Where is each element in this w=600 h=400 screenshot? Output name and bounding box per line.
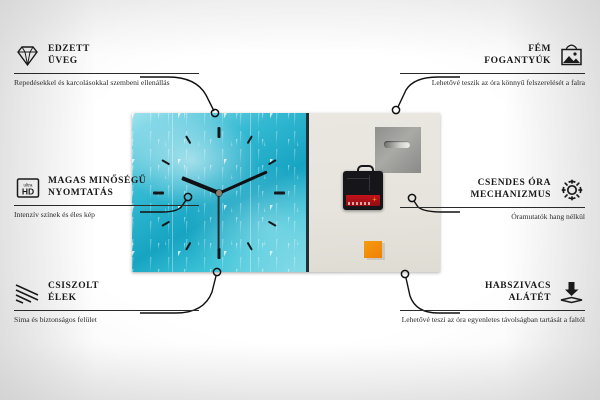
- callout-foam-pad: HABSZIVACSALÁTÉT Lehetővé teszi az óra e…: [400, 279, 585, 325]
- mechanism-hanging-loop: [357, 165, 374, 176]
- quiet-clock-mechanism: +: [343, 171, 383, 210]
- callout-high-quality-print: ultra HD MAGAS MINŐSÉGŰNYOMTATÁS Intenzí…: [14, 174, 199, 220]
- hour-marker: [247, 241, 253, 250]
- callout-divider: [400, 207, 585, 208]
- hour-marker: [218, 127, 221, 138]
- callout-header: FÉMFOGANTYÚK: [400, 42, 585, 69]
- battery-plus-terminal: +: [371, 196, 378, 203]
- callout-title: CSENDES ÓRAMECHANIZMUS: [471, 178, 551, 201]
- hour-marker: [268, 159, 277, 165]
- hour-marker: [218, 248, 221, 259]
- callout-subtitle: Lehetővé teszik az óra könnyű felszerelé…: [400, 78, 585, 88]
- callout-header: CSENDES ÓRAMECHANIZMUS: [400, 176, 585, 203]
- callout-divider: [400, 73, 585, 74]
- hour-marker: [247, 135, 253, 144]
- callout-divider: [400, 310, 585, 311]
- picture-hanger-icon: [558, 42, 585, 69]
- callout-divider: [14, 205, 199, 206]
- battery-label-strip: [348, 202, 371, 205]
- hour-marker: [274, 191, 285, 194]
- callout-divider: [14, 73, 199, 74]
- hour-marker: [185, 241, 191, 250]
- second-hand: [218, 193, 220, 249]
- callout-title: CSISZOLTÉLEK: [48, 281, 99, 304]
- ultra-hd-icon: ultra HD: [14, 174, 41, 201]
- hour-marker: [268, 220, 277, 226]
- callout-polished-edges: CSISZOLTÉLEK Sima és biztonságos felület: [14, 279, 199, 325]
- hand-cap: [216, 190, 222, 196]
- hour-marker: [161, 220, 170, 226]
- svg-text:HD: HD: [21, 186, 33, 196]
- mechanism-seam: [347, 178, 369, 179]
- callout-title: EDZETTÜVEG: [48, 44, 90, 67]
- callout-tempered-glass: EDZETTÜVEG Repedésekkel és karcolásokkal…: [14, 42, 199, 88]
- aa-battery: +: [346, 195, 380, 206]
- callout-header: EDZETTÜVEG: [14, 42, 199, 69]
- callout-header: ultra HD MAGAS MINŐSÉGŰNYOMTATÁS: [14, 174, 199, 201]
- callout-subtitle: Intenzív színek és éles kép: [14, 210, 199, 220]
- diamond-icon: [14, 42, 41, 69]
- callout-silent-mechanism: CSENDES ÓRAMECHANIZMUS Óramutatók hang n…: [400, 176, 585, 222]
- callout-title: HABSZIVACSALÁTÉT: [485, 281, 551, 304]
- hour-marker: [185, 135, 191, 144]
- callout-header: HABSZIVACSALÁTÉT: [400, 279, 585, 306]
- callout-title: FÉMFOGANTYÚK: [484, 44, 551, 67]
- arrow-onto-pad-icon: [558, 279, 585, 306]
- callout-metal-handles: FÉMFOGANTYÚK Lehetővé teszik az óra könn…: [400, 42, 585, 88]
- hanger-slot: [384, 141, 410, 148]
- callout-divider: [14, 310, 199, 311]
- callout-header: CSISZOLTÉLEK: [14, 279, 199, 306]
- callout-subtitle: Repedésekkel és karcolásokkal szembeni e…: [14, 78, 199, 88]
- callout-subtitle: Lehetővé teszi az óra egyenletes távolsá…: [400, 315, 585, 325]
- callout-subtitle: Sima és biztonságos felület: [14, 315, 199, 325]
- minute-hand: [218, 170, 267, 194]
- hour-marker: [161, 159, 170, 165]
- callout-subtitle: Óramutatók hang nélkül: [400, 212, 585, 222]
- infographic-canvas: + EDZETTÜVEG: [0, 0, 600, 400]
- diagonal-lines-icon: [14, 279, 41, 306]
- foam-spacer-pad: [364, 241, 382, 258]
- mechanism-seam: [369, 175, 370, 191]
- callout-title: MAGAS MINŐSÉGŰNYOMTATÁS: [48, 176, 146, 199]
- metal-hanger-plate: [375, 127, 421, 173]
- gear-icon: [558, 176, 585, 203]
